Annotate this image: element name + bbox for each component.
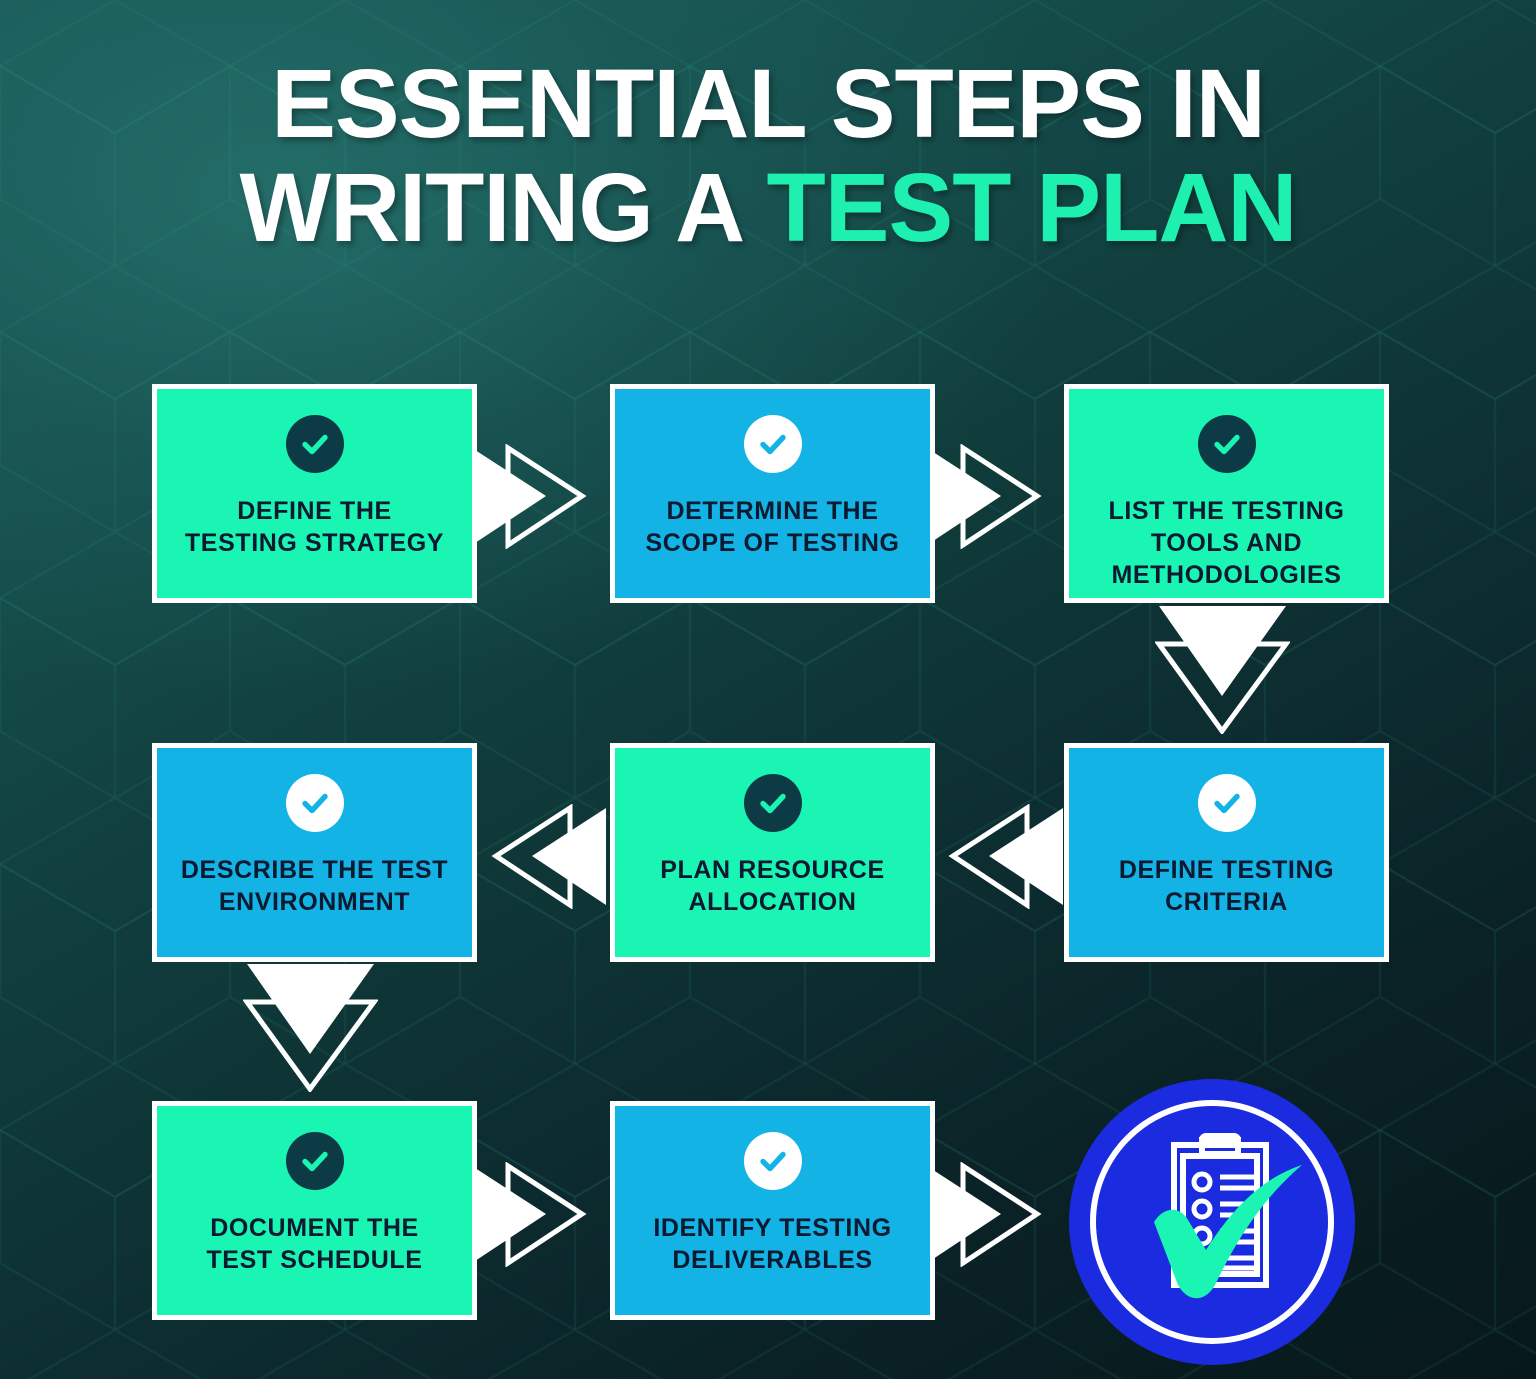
step-label-5: PLAN RESOURCEALLOCATION bbox=[650, 854, 895, 918]
step-box-5[interactable]: PLAN RESOURCEALLOCATION bbox=[610, 743, 935, 962]
step-box-4[interactable]: DEFINE TESTINGCRITERIA bbox=[1064, 743, 1389, 962]
step-label-4: DEFINE TESTINGCRITERIA bbox=[1109, 854, 1344, 918]
step-box-8[interactable]: IDENTIFY TESTINGDELIVERABLES bbox=[610, 1101, 935, 1320]
step-label-8: IDENTIFY TESTINGDELIVERABLES bbox=[643, 1212, 901, 1276]
step-box-3[interactable]: LIST THE TESTINGTOOLS ANDMETHODOLOGIES bbox=[1064, 384, 1389, 603]
check-circle-icon bbox=[286, 415, 344, 473]
check-circle-icon bbox=[286, 774, 344, 832]
step-box-1[interactable]: DEFINE THETESTING STRATEGY bbox=[152, 384, 477, 603]
flow-diagram: DEFINE THETESTING STRATEGY DETERMINE THE… bbox=[0, 384, 1536, 1324]
step-label-3: LIST THE TESTINGTOOLS ANDMETHODOLOGIES bbox=[1099, 495, 1355, 591]
arrow-step2-to-step3 bbox=[925, 444, 1055, 549]
check-circle-icon bbox=[744, 415, 802, 473]
arrow-step4-to-step5 bbox=[935, 804, 1065, 909]
arrow-step7-to-step8 bbox=[470, 1162, 600, 1267]
arrow-step8-to-final-badge bbox=[925, 1162, 1055, 1267]
step-box-2[interactable]: DETERMINE THESCOPE OF TESTING bbox=[610, 384, 935, 603]
check-circle-icon bbox=[286, 1132, 344, 1190]
step-box-6[interactable]: DESCRIBE THE TESTENVIRONMENT bbox=[152, 743, 477, 962]
title-accent-test-plan: TEST PLAN bbox=[767, 153, 1297, 262]
title-line-2: WRITING A TEST PLAN bbox=[0, 156, 1536, 260]
arrow-step3-to-step4 bbox=[1155, 604, 1290, 734]
check-circle-icon bbox=[1198, 415, 1256, 473]
step-label-2: DETERMINE THESCOPE OF TESTING bbox=[635, 495, 909, 559]
step-label-1: DEFINE THETESTING STRATEGY bbox=[175, 495, 454, 559]
clipboard-checklist-with-checkmark-icon bbox=[1068, 1078, 1356, 1366]
page-title: ESSENTIAL STEPS IN WRITING A TEST PLAN bbox=[0, 52, 1536, 260]
step-label-7: DOCUMENT THETEST SCHEDULE bbox=[196, 1212, 432, 1276]
check-circle-icon bbox=[1198, 774, 1256, 832]
badge-circle bbox=[1069, 1079, 1355, 1365]
arrow-step1-to-step2 bbox=[470, 444, 600, 549]
arrow-step6-to-step7 bbox=[243, 962, 378, 1092]
title-line-2-plain: WRITING A bbox=[240, 153, 767, 262]
check-circle-icon bbox=[744, 774, 802, 832]
check-circle-icon bbox=[744, 1132, 802, 1190]
title-line-1: ESSENTIAL STEPS IN bbox=[0, 52, 1536, 156]
step-label-6: DESCRIBE THE TESTENVIRONMENT bbox=[171, 854, 458, 918]
step-box-7[interactable]: DOCUMENT THETEST SCHEDULE bbox=[152, 1101, 477, 1320]
arrow-step5-to-step6 bbox=[478, 804, 608, 909]
